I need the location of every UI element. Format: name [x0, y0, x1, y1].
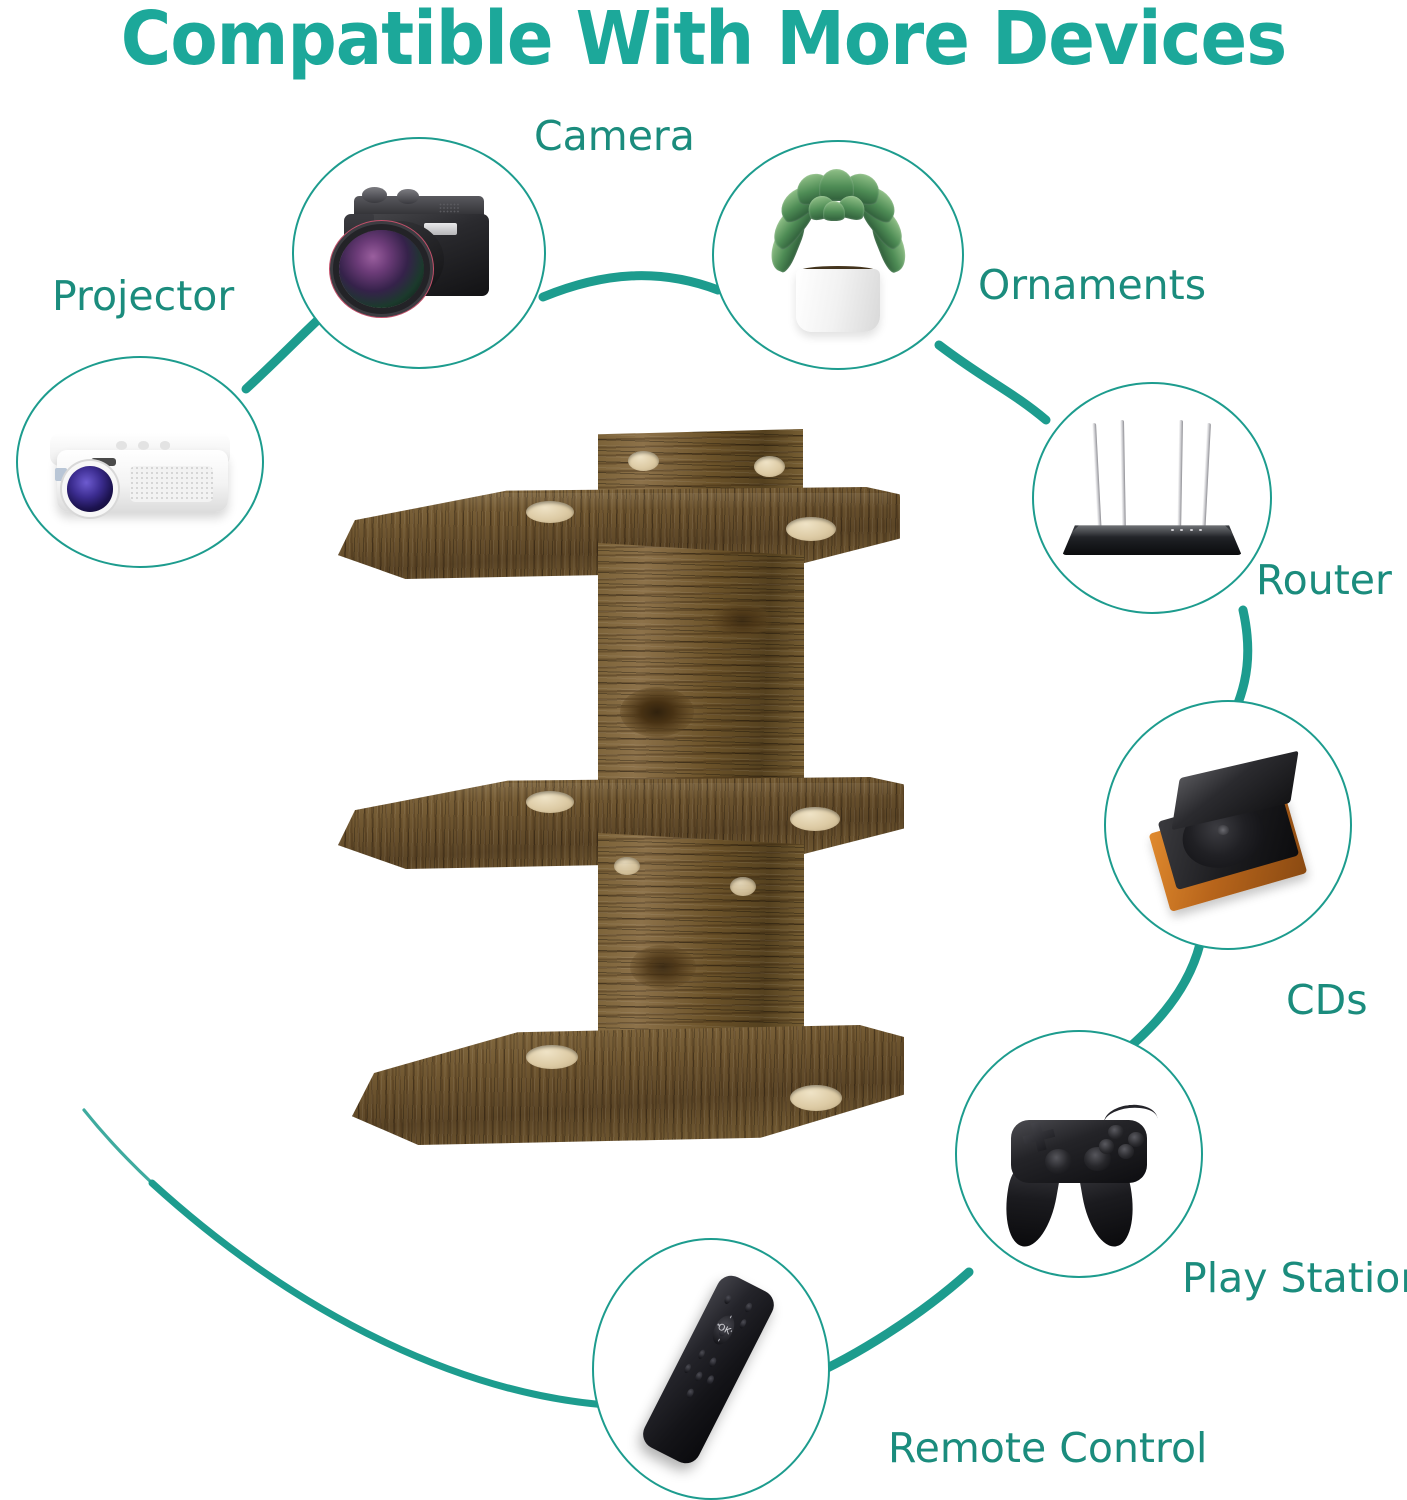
camera-icon	[294, 139, 544, 367]
cable-hole	[614, 857, 640, 875]
wood-knot	[712, 603, 772, 637]
cable-hole	[628, 451, 659, 471]
label-camera: Camera	[534, 116, 695, 157]
cable-hole	[730, 877, 756, 896]
infographic-canvas: Compatible With More Devices	[0, 0, 1407, 1500]
label-play-station: Play Station	[1182, 1258, 1407, 1299]
callout-play-station[interactable]	[955, 1030, 1203, 1278]
shelf-upright-upper	[598, 543, 804, 793]
callout-cds[interactable]	[1104, 700, 1352, 950]
callout-projector[interactable]	[16, 356, 264, 568]
cable-hole	[526, 501, 574, 523]
label-projector: Projector	[52, 276, 234, 317]
succulent-icon	[714, 142, 962, 368]
wood-knot	[630, 945, 696, 989]
shelf-edge-highlight	[342, 493, 890, 509]
cable-hole	[790, 1085, 842, 1111]
wood-knot	[620, 687, 694, 737]
projector-icon	[18, 358, 262, 566]
callout-remote-control[interactable]: OK	[592, 1238, 830, 1500]
callout-router[interactable]	[1032, 382, 1272, 614]
cable-hole	[790, 807, 840, 831]
callout-ornaments[interactable]	[712, 140, 964, 370]
cable-hole	[526, 791, 574, 813]
cd-player-icon	[1106, 702, 1350, 948]
label-ornaments: Ornaments	[978, 265, 1206, 306]
label-cds: CDs	[1286, 980, 1368, 1021]
cable-hole	[786, 517, 836, 541]
label-remote-control: Remote Control	[888, 1428, 1207, 1469]
router-icon	[1034, 384, 1270, 612]
product-shelf	[330, 425, 920, 1165]
label-router: Router	[1256, 560, 1392, 601]
remote-icon: OK	[594, 1240, 828, 1498]
cable-hole	[526, 1045, 578, 1069]
cable-hole	[754, 456, 785, 477]
callout-camera[interactable]	[292, 137, 546, 369]
gamepad-icon	[957, 1032, 1201, 1276]
shelf-edge-highlight	[342, 783, 894, 799]
